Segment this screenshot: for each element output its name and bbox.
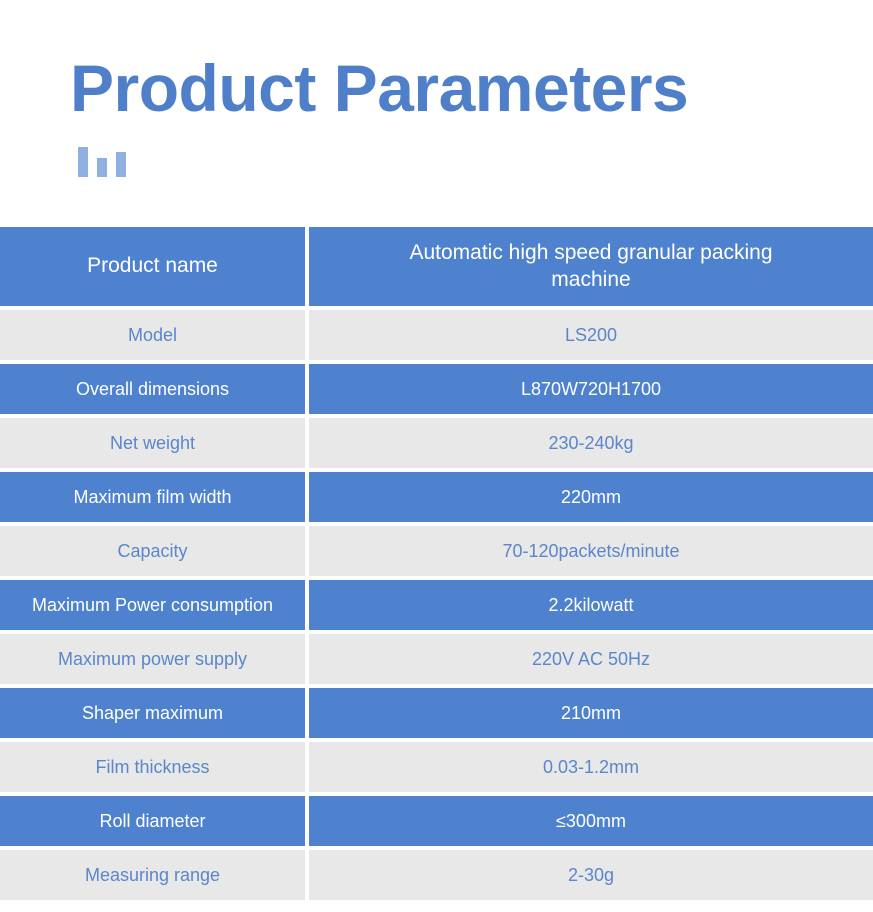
table-row: Measuring range2-30g: [0, 850, 873, 900]
table-row-value-cell: L870W720H1700: [309, 364, 873, 414]
product-parameters-page: Product Parameters Product name Automati…: [0, 0, 873, 912]
table-row: Shaper maximum210mm: [0, 688, 873, 738]
decorative-bar-2-icon: [97, 158, 107, 177]
decorative-bar-chart-icon: [78, 143, 126, 177]
table-header-value-cell: Automatic high speed granular packing ma…: [309, 227, 873, 306]
table-row-label-cell: Maximum film width: [0, 472, 305, 522]
table-row-label-cell: Overall dimensions: [0, 364, 305, 414]
table-row-value-cell: 220mm: [309, 472, 873, 522]
table-row: Maximum film width220mm: [0, 472, 873, 522]
table-row: Maximum Power consumption2.2kilowatt: [0, 580, 873, 630]
page-title: Product Parameters: [70, 55, 688, 121]
table-header-label-cell: Product name: [0, 227, 305, 306]
table-row-label-cell: Net weight: [0, 418, 305, 468]
table-row-value-cell: 2-30g: [309, 850, 873, 900]
table-row: Film thickness0.03-1.2mm: [0, 742, 873, 792]
decorative-bar-3-icon: [116, 152, 126, 177]
table-row: Overall dimensionsL870W720H1700: [0, 364, 873, 414]
table-row-value-cell: 210mm: [309, 688, 873, 738]
table-row: Capacity70-120packets/minute: [0, 526, 873, 576]
table-header-value-line-2: machine: [409, 267, 772, 293]
table-row: Net weight230-240kg: [0, 418, 873, 468]
table-header-value-line-1: Automatic high speed granular packing: [409, 240, 772, 266]
table-row-value-cell: 230-240kg: [309, 418, 873, 468]
table-body: ModelLS200Overall dimensionsL870W720H170…: [0, 310, 873, 900]
table-row-value-cell: LS200: [309, 310, 873, 360]
table-row-label-cell: Capacity: [0, 526, 305, 576]
table-row-label-cell: Measuring range: [0, 850, 305, 900]
table-row-value-cell: 0.03-1.2mm: [309, 742, 873, 792]
table-row-label-cell: Maximum power supply: [0, 634, 305, 684]
table-row-value-cell: ≤300mm: [309, 796, 873, 846]
table-row: Maximum power supply220V AC 50Hz: [0, 634, 873, 684]
table-row-value-cell: 220V AC 50Hz: [309, 634, 873, 684]
title-block: Product Parameters: [0, 0, 873, 227]
table-row-value-cell: 70-120packets/minute: [309, 526, 873, 576]
table-row-label-cell: Film thickness: [0, 742, 305, 792]
table-row-label-cell: Maximum Power consumption: [0, 580, 305, 630]
table-row-label-cell: Model: [0, 310, 305, 360]
specifications-table: Product name Automatic high speed granul…: [0, 227, 873, 904]
table-header-row: Product name Automatic high speed granul…: [0, 227, 873, 306]
table-row-value-cell: 2.2kilowatt: [309, 580, 873, 630]
decorative-bar-1-icon: [78, 147, 88, 177]
table-row-label-cell: Shaper maximum: [0, 688, 305, 738]
table-row: ModelLS200: [0, 310, 873, 360]
table-row-label-cell: Roll diameter: [0, 796, 305, 846]
table-row: Roll diameter≤300mm: [0, 796, 873, 846]
